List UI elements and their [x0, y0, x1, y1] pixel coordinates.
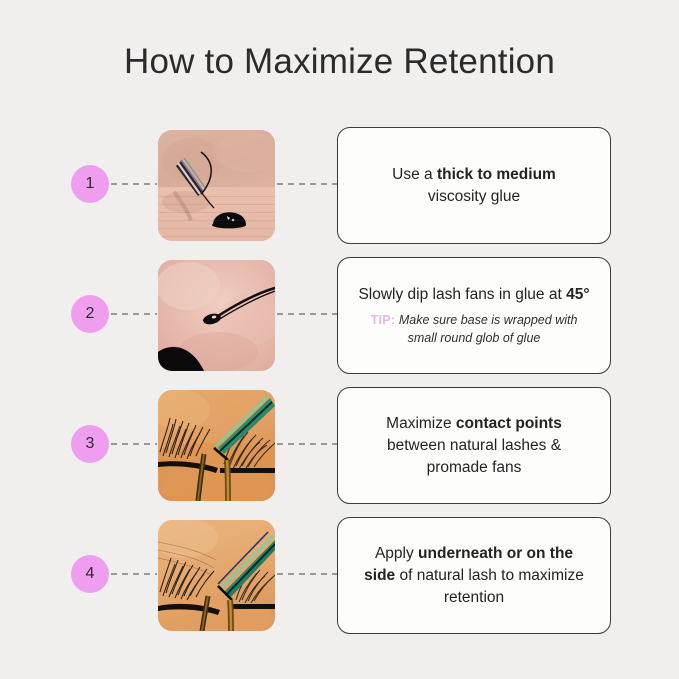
- step-number-badge-2: 2: [71, 295, 109, 333]
- step-text-card-4: Apply underneath or on the side of natur…: [337, 517, 611, 634]
- connector-image-to-card-2: [277, 313, 337, 315]
- connector-badge-to-image-1: [111, 183, 157, 185]
- step-row-3: 3: [0, 380, 679, 510]
- page-title: How to Maximize Retention: [0, 42, 679, 82]
- step-text-line: between natural lashes &: [387, 435, 561, 457]
- step-image-2: [158, 260, 275, 371]
- step-text-line: side of natural lash to maximize: [364, 565, 584, 587]
- step-text-card-3: Maximize contact points between natural …: [337, 387, 611, 504]
- step-image-1: [158, 130, 275, 241]
- step-text-card-2: Slowly dip lash fans in glue at 45° TIP:…: [337, 257, 611, 374]
- connector-badge-to-image-4: [111, 573, 157, 575]
- step-text-line: retention: [444, 587, 504, 609]
- step-row-1: 1: [0, 120, 679, 250]
- step-text-line: promade fans: [427, 457, 522, 479]
- step-number-badge-3: 3: [71, 425, 109, 463]
- step-row-4: 4: [0, 510, 679, 640]
- tip-text-line-1: Make sure base is wrapped with: [399, 313, 578, 327]
- connector-badge-to-image-3: [111, 443, 157, 445]
- step-tip: TIP: Make sure base is wrapped with: [371, 311, 578, 329]
- connector-image-to-card-3: [277, 443, 337, 445]
- step-number-label: 3: [86, 436, 95, 452]
- step-number-badge-1: 1: [71, 165, 109, 203]
- step-text-line: Maximize contact points: [386, 413, 562, 435]
- infographic-page: How to Maximize Retention 1: [0, 0, 679, 679]
- connector-badge-to-image-2: [111, 313, 157, 315]
- step-tip-continued: small round glob of glue: [408, 329, 541, 347]
- step-text-line: Apply underneath or on the: [375, 543, 573, 565]
- step-number-badge-4: 4: [71, 555, 109, 593]
- step-number-label: 1: [86, 176, 95, 192]
- step-number-label: 2: [86, 306, 95, 322]
- step-image-3: [158, 390, 275, 501]
- connector-image-to-card-4: [277, 573, 337, 575]
- step-text-line: viscosity glue: [428, 186, 520, 208]
- tip-text-line-2: small round glob of glue: [408, 331, 541, 345]
- step-number-label: 4: [86, 566, 95, 582]
- step-text-line: Use a thick to medium: [392, 164, 556, 186]
- step-text-line: Slowly dip lash fans in glue at 45°: [358, 284, 589, 306]
- step-text-card-1: Use a thick to medium viscosity glue: [337, 127, 611, 244]
- step-image-4: [158, 520, 275, 631]
- connector-image-to-card-1: [277, 183, 337, 185]
- tip-label: TIP:: [371, 313, 396, 327]
- step-row-2: 2: [0, 250, 679, 380]
